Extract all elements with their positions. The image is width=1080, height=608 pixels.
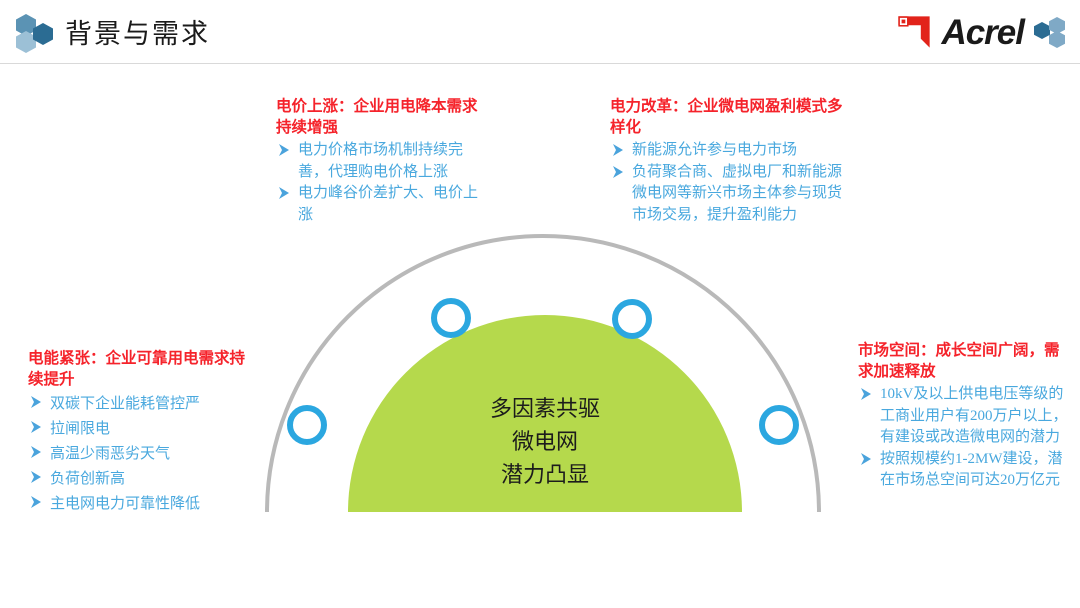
arrow-bullet-icon [611, 164, 625, 180]
block-heading: 市场空间：成长空间广阔，需求加速释放 [858, 340, 1074, 382]
acrel-logo: Acrel [897, 12, 1066, 52]
list-item-text: 主电网电力可靠性降低 [50, 496, 200, 512]
arrow-bullet-icon [29, 394, 43, 410]
dome-label-line-1: 多因素共驱 [404, 392, 686, 425]
text-block-price: 电价上涨：企业用电降本需求持续增强 电力价格市场机制持续完善，代理购电价格上涨 … [276, 96, 482, 226]
text-block-market: 市场空间：成长空间广阔，需求加速释放 10kV及以上供电电压等级的工商业用户有2… [858, 340, 1074, 492]
arrow-bullet-icon [29, 469, 43, 485]
node-left [290, 408, 324, 442]
arrow-bullet-icon [29, 494, 43, 510]
list-item-text: 10kV及以上供电电压等级的工商业用户有200万户以上，有建设或改造微电网的潜力 [880, 386, 1068, 445]
list-item: 负荷聚合商、虚拟电厂和新能源微电网等新兴市场主体参与现货市场交易，提升盈利能力 [610, 162, 850, 227]
arrow-bullet-icon [611, 142, 625, 158]
acrel-wordmark: Acrel [941, 15, 1024, 50]
list-item-text: 双碳下企业能耗管控严 [50, 396, 200, 412]
dome-label-line-2: 微电网 [404, 425, 686, 458]
logo-hexagon-icon-bottom-right [1049, 31, 1065, 48]
dome-label: 多因素共驱 微电网 潜力凸显 [404, 392, 686, 491]
acrel-square-logo-icon [897, 15, 931, 49]
list-item: 电力峰谷价差扩大、电价上涨 [276, 183, 482, 226]
logo-hexagon-icon-left [1034, 22, 1050, 39]
text-block-reform: 电力改革：企业微电网盈利模式多样化 新能源允许参与电力市场 负荷聚合商、虚拟电厂… [610, 96, 850, 226]
node-top-right [615, 302, 649, 336]
list-item-text: 电力峰谷价差扩大、电价上涨 [298, 185, 478, 223]
dome-label-line-3: 潜力凸显 [404, 458, 686, 491]
logo-hexagon-cluster-icon [1034, 17, 1066, 47]
list-item-text: 新能源允许参与电力市场 [632, 142, 797, 158]
list-item-text: 电力价格市场机制持续完善，代理购电价格上涨 [298, 142, 463, 180]
list-item: 电力价格市场机制持续完善，代理购电价格上涨 [276, 140, 482, 183]
list-item-text: 负荷创新高 [50, 471, 125, 487]
list-item: 高温少雨恶劣天气 [28, 442, 260, 467]
block-heading: 电力改革：企业微电网盈利模式多样化 [610, 96, 850, 138]
block-bullet-list: 双碳下企业能耗管控严 拉闸限电 高温少雨恶劣天气 负荷创新高 主电网电力可靠性降… [28, 392, 260, 517]
header-divider [0, 63, 1080, 64]
node-top-left [434, 301, 468, 335]
block-bullet-list: 10kV及以上供电电压等级的工商业用户有200万户以上，有建设或改造微电网的潜力… [858, 384, 1074, 492]
decorative-hexagon-cluster-icon [14, 14, 66, 54]
block-heading: 电价上涨：企业用电降本需求持续增强 [276, 96, 482, 138]
list-item: 双碳下企业能耗管控严 [28, 392, 260, 417]
arrow-bullet-icon [859, 451, 873, 467]
text-block-shortage: 电能紧张：企业可靠用电需求持续提升 双碳下企业能耗管控严 拉闸限电 高温少雨恶劣… [28, 348, 260, 517]
arrow-bullet-icon [277, 142, 291, 158]
arrow-bullet-icon [29, 419, 43, 435]
block-bullet-list: 电力价格市场机制持续完善，代理购电价格上涨 电力峰谷价差扩大、电价上涨 [276, 140, 482, 226]
list-item-text: 负荷聚合商、虚拟电厂和新能源微电网等新兴市场主体参与现货市场交易，提升盈利能力 [632, 164, 842, 223]
block-heading: 电能紧张：企业可靠用电需求持续提升 [28, 348, 260, 390]
list-item-text: 按照规模约1-2MW建设，潜在市场总空间可达20万亿元 [880, 451, 1063, 489]
list-item-text: 拉闸限电 [50, 421, 110, 437]
list-item: 新能源允许参与电力市场 [610, 140, 850, 162]
page-header: 背景与需求 Acrel [0, 0, 1080, 64]
list-item: 拉闸限电 [28, 417, 260, 442]
list-item: 按照规模约1-2MW建设，潜在市场总空间可达20万亿元 [858, 449, 1074, 492]
page-title: 背景与需求 [65, 12, 210, 51]
node-right [762, 408, 796, 442]
list-item: 10kV及以上供电电压等级的工商业用户有200万户以上，有建设或改造微电网的潜力 [858, 384, 1074, 449]
list-item-text: 高温少雨恶劣天气 [50, 446, 170, 462]
arrow-bullet-icon [29, 444, 43, 460]
arrow-bullet-icon [277, 185, 291, 201]
hexagon-icon-right [33, 23, 53, 45]
block-bullet-list: 新能源允许参与电力市场 负荷聚合商、虚拟电厂和新能源微电网等新兴市场主体参与现货… [610, 140, 850, 226]
arrow-bullet-icon [859, 386, 873, 402]
list-item: 负荷创新高 [28, 467, 260, 492]
list-item: 主电网电力可靠性降低 [28, 492, 260, 517]
